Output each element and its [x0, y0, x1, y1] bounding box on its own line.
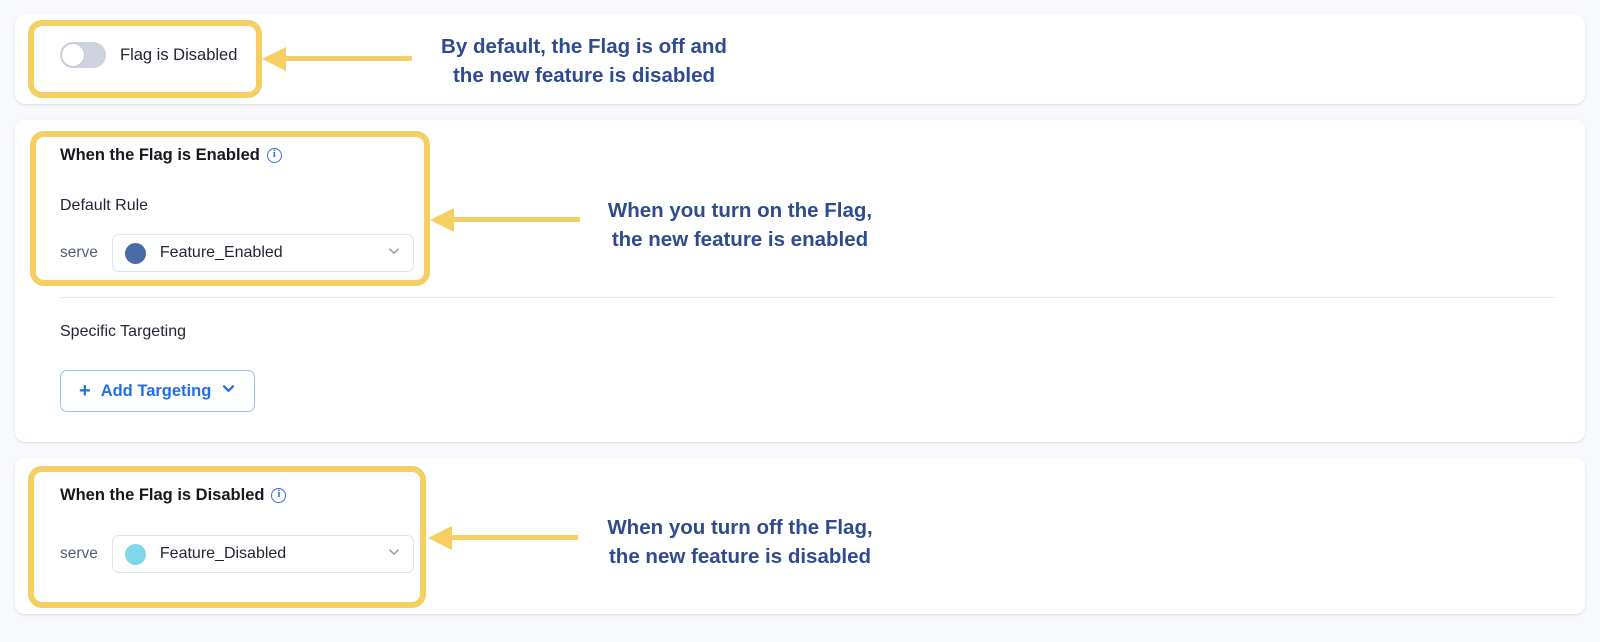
serve-variation-value: Feature_Disabled: [160, 545, 373, 563]
default-rule-label: Default Rule: [60, 197, 148, 215]
info-icon[interactable]: i: [267, 148, 282, 163]
variation-color-swatch: [125, 544, 146, 565]
flag-toggle-switch[interactable]: [60, 42, 106, 68]
annotation-text-disabled: When you turn off the Flag, the new feat…: [584, 513, 896, 571]
flag-configuration-page: Flag is Disabled When the Flag is Enable…: [0, 0, 1600, 642]
flag-toggle-row: Flag is Disabled: [60, 42, 237, 68]
flag-enabled-card: When the Flag is Enabled i Default Rule …: [15, 120, 1585, 442]
variation-color-swatch: [125, 243, 146, 264]
serve-label: serve: [60, 545, 98, 563]
add-targeting-label: Add Targeting: [101, 382, 212, 401]
chevron-down-icon: [387, 545, 401, 564]
annotation-text-enabled: When you turn on the Flag, the new featu…: [584, 196, 896, 254]
info-icon[interactable]: i: [271, 488, 286, 503]
disabled-serve-row: serve Feature_Disabled: [60, 535, 414, 573]
flag-disabled-heading-text: When the Flag is Disabled: [60, 486, 264, 505]
plus-icon: +: [79, 381, 91, 401]
toggle-knob: [61, 43, 85, 67]
flag-toggle-card: Flag is Disabled: [15, 14, 1585, 104]
serve-variation-select-enabled[interactable]: Feature_Enabled: [112, 234, 414, 272]
serve-label: serve: [60, 244, 98, 262]
flag-enabled-heading-text: When the Flag is Enabled: [60, 146, 260, 165]
default-rule-serve-row: serve Feature_Enabled: [60, 234, 414, 272]
serve-variation-select-disabled[interactable]: Feature_Disabled: [112, 535, 414, 573]
serve-variation-value: Feature_Enabled: [160, 244, 373, 262]
flag-disabled-heading: When the Flag is Disabled i: [60, 486, 286, 505]
chevron-down-icon: [387, 244, 401, 263]
chevron-down-icon: [221, 381, 236, 401]
flag-enabled-heading: When the Flag is Enabled i: [60, 146, 282, 165]
add-targeting-button[interactable]: + Add Targeting: [60, 370, 255, 412]
specific-targeting-label: Specific Targeting: [60, 323, 186, 341]
annotation-text-toggle: By default, the Flag is off and the new …: [416, 32, 752, 90]
flag-toggle-label: Flag is Disabled: [120, 46, 237, 65]
section-divider: [60, 297, 1555, 298]
